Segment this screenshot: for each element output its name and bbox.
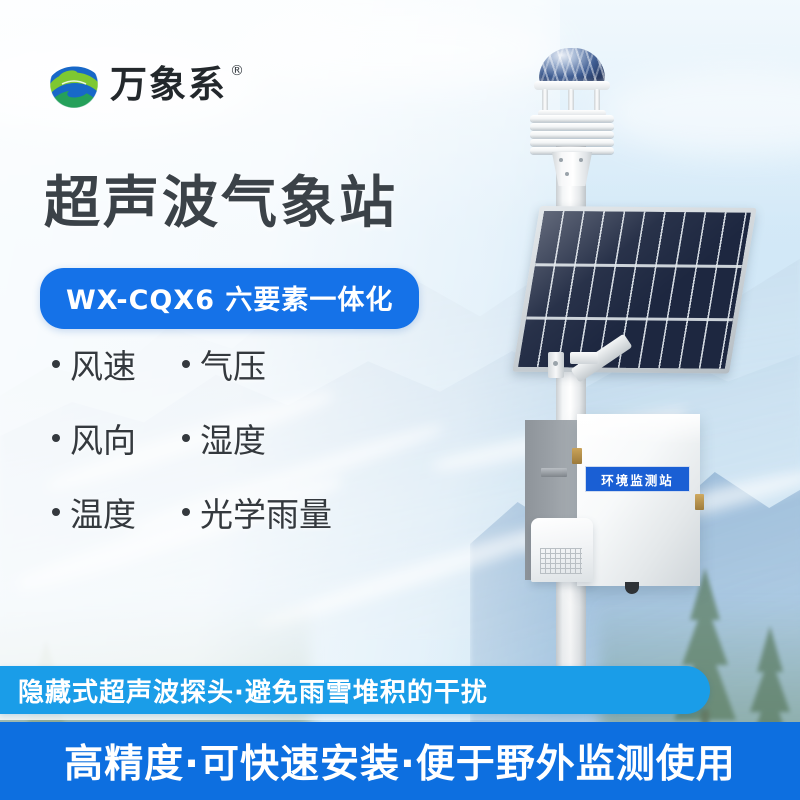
bottom-banner-text: 高精度·可快速安装·便于野外监测使用: [64, 733, 736, 789]
feature-label: 温度: [70, 488, 136, 536]
feature-banner: 隐藏式超声波探头·避免雨雪堆积的干扰: [0, 666, 710, 714]
feature-list: 风速 气压 风向 湿度 温度 光学雨量: [52, 340, 332, 536]
control-enclosure: 环境监测站: [525, 414, 700, 586]
enclosure-label: 环境监测站: [585, 466, 690, 492]
clamp-bolt: [553, 361, 558, 366]
feature-item-optical-rainfall: 光学雨量: [182, 488, 332, 536]
enclosure-hinge: [572, 448, 582, 464]
feature-banner-text: 隐藏式超声波探头·避免雨雪堆积的干扰: [18, 672, 488, 709]
collar-bolt: [565, 172, 569, 176]
bottom-banner: 高精度·可快速安装·便于野外监测使用: [0, 722, 800, 800]
bullet-dot-icon: [182, 360, 190, 368]
ultrasonic-sensor-head: [516, 48, 628, 160]
enclosure-latch: [695, 494, 704, 510]
globe-swoosh-logo-icon: [48, 58, 100, 110]
panel-pole-clamp: [548, 352, 564, 378]
shield-louver: [530, 123, 614, 130]
feature-item-wind-direction: 风向: [52, 414, 178, 462]
enclosure-vent-hood: [531, 518, 593, 582]
shield-louver: [530, 139, 614, 146]
bullet-dot-icon: [182, 434, 190, 442]
page-title: 超声波气象站: [44, 158, 398, 239]
feature-label: 风向: [70, 414, 136, 462]
solar-panel-glare: [518, 211, 751, 369]
feature-label: 风速: [70, 340, 136, 388]
feature-item-humidity: 湿度: [182, 414, 332, 462]
radiation-shield: [530, 115, 614, 153]
vent-grill: [540, 548, 582, 574]
collar-bolt: [559, 158, 563, 162]
feature-item-temperature: 温度: [52, 488, 178, 536]
bullet-dot-icon: [182, 508, 190, 516]
model-badge: WX-CQX6 六要素一体化: [40, 268, 419, 329]
enclosure-front-door: [577, 414, 700, 586]
feature-label: 气压: [200, 340, 266, 388]
shield-louver: [530, 131, 614, 138]
enclosure-side-vent: [541, 468, 567, 477]
enclosure-cable-gland: [625, 582, 639, 594]
brand-name-text: 万象系: [110, 63, 227, 106]
bullet-dot-icon: [52, 508, 60, 516]
collar-bolt: [579, 158, 583, 162]
feature-item-wind-speed: 风速: [52, 340, 178, 388]
feature-label: 湿度: [200, 414, 266, 462]
panel-mount-arm: [570, 352, 598, 364]
bullet-dot-icon: [52, 434, 60, 442]
registered-trademark-icon: ®: [230, 64, 246, 78]
feature-item-air-pressure: 气压: [182, 340, 332, 388]
solar-panel: [512, 206, 756, 374]
shield-louver: [530, 115, 614, 122]
feature-label: 光学雨量: [200, 488, 332, 536]
brand-wordmark: 万象系 ®: [110, 66, 227, 103]
solar-panel-frame: [512, 206, 756, 374]
sensor-dome-icon: [539, 48, 605, 84]
brand-logo: 万象系 ®: [48, 58, 227, 110]
bullet-dot-icon: [52, 360, 60, 368]
product-poster: 环境监测站: [0, 0, 800, 800]
